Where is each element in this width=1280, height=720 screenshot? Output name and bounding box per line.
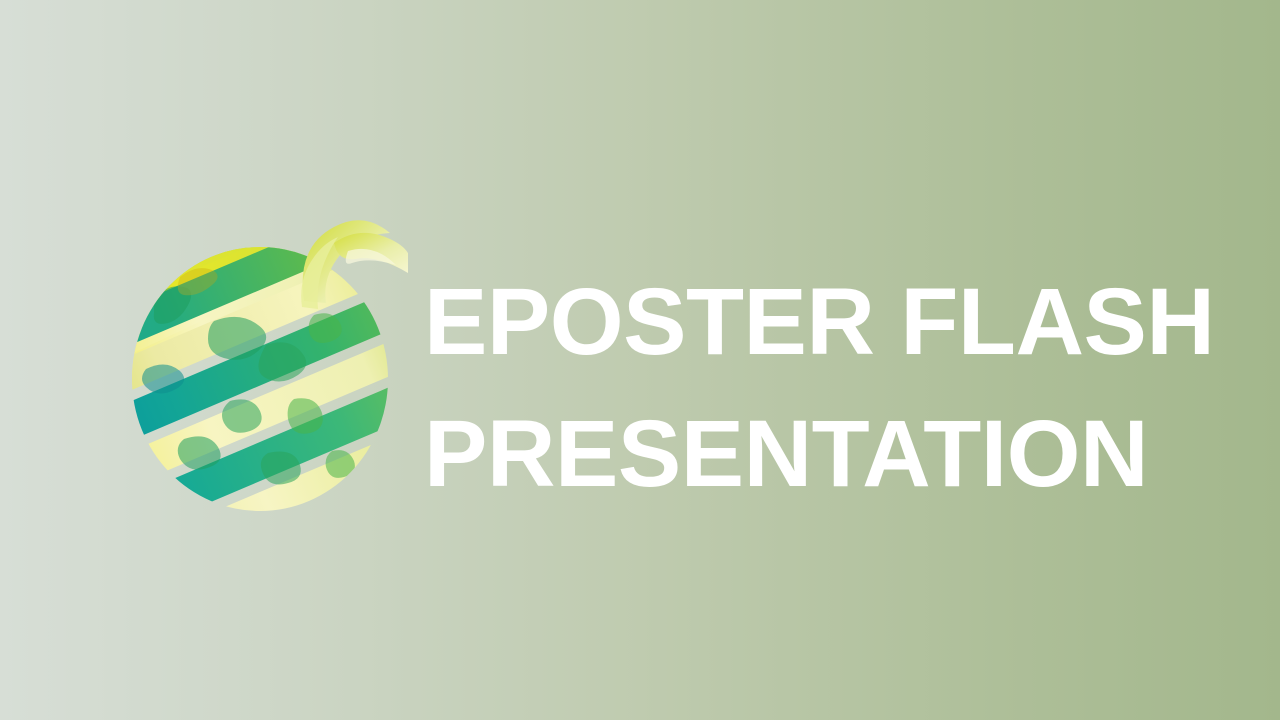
- leaf-curl: [301, 220, 408, 309]
- globe-ribbon-leaf-logo: [118, 203, 408, 511]
- title-line-1: EPOSTER FLASH: [424, 256, 1224, 388]
- slide-title: EPOSTER FLASH PRESENTATION: [424, 256, 1224, 520]
- globe-ribbon-group: [118, 203, 408, 511]
- slide-canvas: EPOSTER FLASH PRESENTATION: [0, 0, 1280, 720]
- title-line-2: PRESENTATION: [424, 388, 1224, 520]
